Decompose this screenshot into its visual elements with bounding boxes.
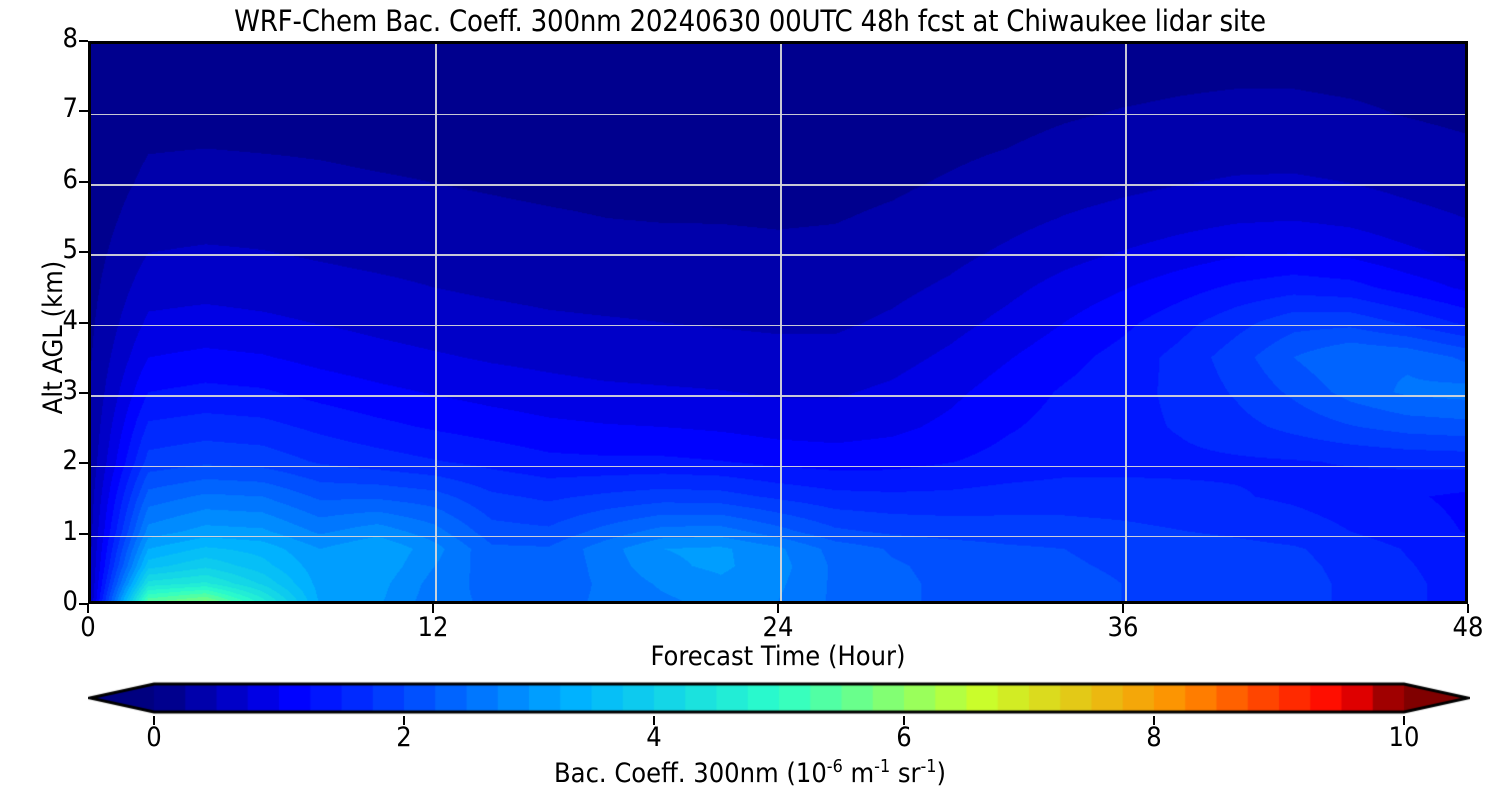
- gridline-horizontal: [91, 536, 1465, 538]
- colorbar-label-mid: m: [843, 758, 874, 789]
- colorbar: [88, 678, 1470, 718]
- gridline-horizontal: [91, 395, 1465, 397]
- colorbar-label-exp2: -1: [874, 756, 890, 777]
- colorbar-tick-label: 10: [1364, 722, 1444, 753]
- contour-field: [91, 44, 1465, 601]
- colorbar-label-main: Bac. Coeff. 300nm (10: [554, 758, 827, 789]
- gridline-horizontal: [91, 325, 1465, 327]
- y-tick-mark: [79, 462, 88, 464]
- gridline-vertical: [780, 44, 782, 601]
- y-axis-label: Alt AGL (km): [38, 56, 69, 619]
- gridline-vertical: [1125, 44, 1127, 601]
- colorbar-tick-label: 6: [864, 722, 944, 753]
- y-tick-label: 8: [18, 23, 78, 54]
- y-tick-mark: [79, 322, 88, 324]
- gridline-horizontal: [91, 184, 1465, 186]
- gridline-horizontal: [91, 114, 1465, 116]
- colorbar-tick-label: 8: [1114, 722, 1194, 753]
- x-tick-label: 12: [388, 612, 478, 643]
- x-tick-label: 24: [733, 612, 823, 643]
- colorbar-label-mid2: sr: [890, 758, 920, 789]
- y-tick-mark: [79, 533, 88, 535]
- x-axis-label: Forecast Time (Hour): [88, 641, 1468, 672]
- figure-canvas: WRF-Chem Bac. Coeff. 300nm 20240630 00UT…: [0, 0, 1500, 800]
- y-tick-mark: [79, 181, 88, 183]
- page-title: WRF-Chem Bac. Coeff. 300nm 20240630 00UT…: [0, 4, 1500, 38]
- colorbar-label: Bac. Coeff. 300nm (10-6 m-1 sr-1): [0, 756, 1500, 789]
- gridline-horizontal: [91, 254, 1465, 256]
- y-tick-mark: [79, 392, 88, 394]
- y-tick-mark: [79, 40, 88, 42]
- colorbar-label-end: ): [937, 758, 946, 789]
- y-tick-mark: [79, 251, 88, 253]
- colorbar-tick-label: 4: [614, 722, 694, 753]
- colorbar-tick-label: 2: [364, 722, 444, 753]
- colorbar-label-exp1: -6: [827, 756, 843, 777]
- gridline-horizontal: [91, 466, 1465, 468]
- heatmap-plot-area: [88, 41, 1468, 604]
- gridline-vertical: [435, 44, 437, 601]
- colorbar-label-exp3: -1: [921, 756, 937, 777]
- colorbar-tick-label: 0: [114, 722, 194, 753]
- y-tick-mark: [79, 110, 88, 112]
- x-tick-label: 48: [1423, 612, 1500, 643]
- colorbar-gradient: [88, 678, 1470, 718]
- x-tick-label: 36: [1078, 612, 1168, 643]
